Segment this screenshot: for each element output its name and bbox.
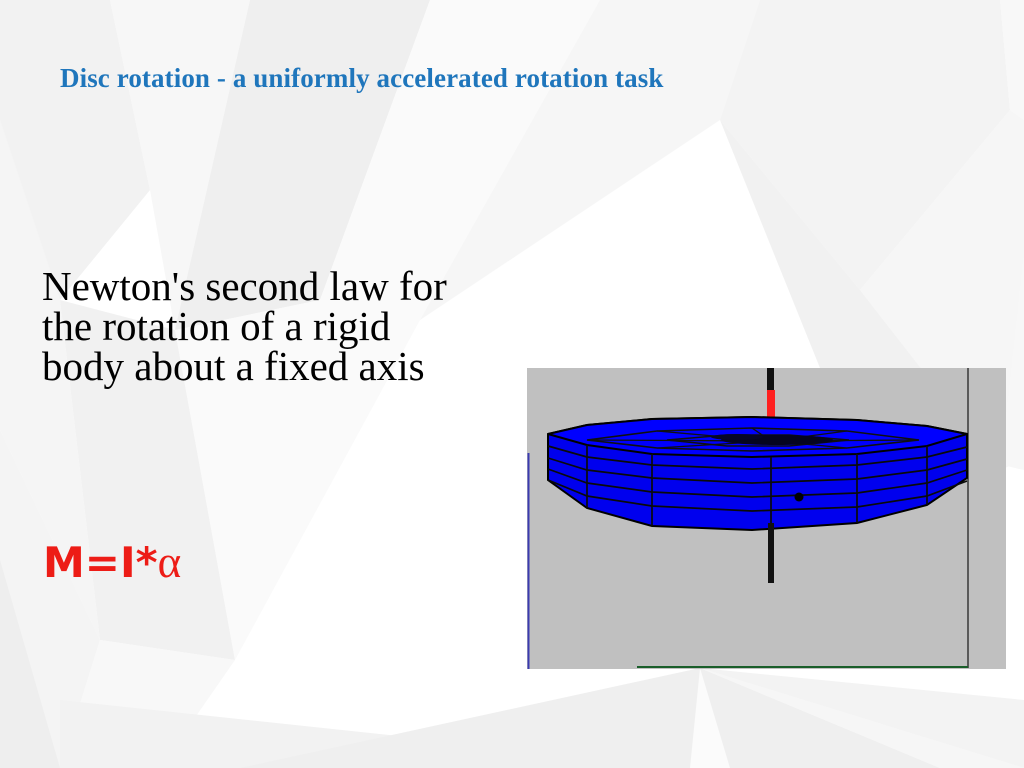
page-title: Disc rotation - a uniformly accelerated … <box>60 63 960 94</box>
body-text-block: Newton's second law for the rotation of … <box>42 266 472 386</box>
body-paragraph: Newton's second law for the rotation of … <box>42 266 472 386</box>
deco-polygon <box>720 0 1010 290</box>
disc-3d-render <box>527 368 1006 669</box>
alpha-symbol: α <box>158 537 182 587</box>
formula-prefix: M=I* <box>43 538 158 587</box>
deco-polygon <box>240 668 940 768</box>
deco-polygon <box>690 668 730 768</box>
disc-3d-figure <box>527 368 1006 669</box>
deco-polygon <box>700 668 1024 768</box>
deco-polygon <box>60 700 700 768</box>
deco-polygon <box>0 560 60 768</box>
disc-hub-shadow <box>711 434 763 440</box>
deco-polygon <box>0 0 150 300</box>
axle-bottom-black <box>768 523 774 583</box>
disc-marker-point <box>795 493 804 502</box>
deco-polygon <box>60 640 235 768</box>
formula-text: M=I*α <box>43 541 181 584</box>
deco-polygon <box>700 668 1024 768</box>
slide-canvas: Disc rotation - a uniformly accelerated … <box>0 0 1024 768</box>
deco-polygon <box>1000 0 1024 120</box>
deco-polygon <box>0 430 100 768</box>
